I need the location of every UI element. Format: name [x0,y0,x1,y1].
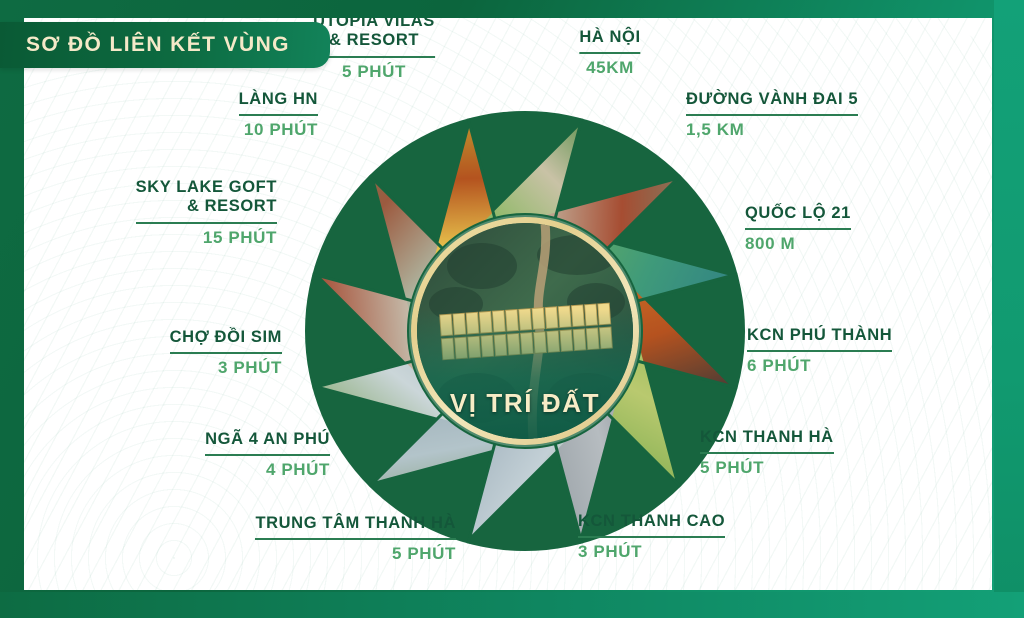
callout-utopia-vilas-resort[interactable]: UTOPIA VILAS & RESORT5 PHÚT [313,18,435,81]
callout-title: LÀNG HN [239,90,318,109]
callout-title: KCN THANH HÀ [700,428,834,447]
callout-title: SKY LAKE GOFT & RESORT [136,178,277,217]
callout-divider [745,228,851,230]
callout-value: 45KM [579,58,640,78]
callout-value: 10 PHÚT [239,120,318,140]
callout-value: 3 PHÚT [170,358,282,378]
callout-title: KCN THANH CAO [578,512,725,531]
callout-duong-vanh-dai-5[interactable]: ĐƯỜNG VÀNH ĐAI 51,5 KM [686,90,858,140]
content-panel: VỊ TRÍ ĐẤT UTOPIA VILAS & RESORT5 PHÚTHÀ… [24,18,992,590]
callout-divider [747,350,892,352]
callout-title: NGÃ 4 AN PHÚ [205,430,330,449]
callout-divider [700,452,834,454]
callout-divider [579,52,640,54]
page-title: SƠ ĐỒ LIÊN KẾT VÙNG [26,33,290,57]
callout-title: TRUNG TÂM THANH HÀ [255,514,456,533]
callout-ha-noi[interactable]: HÀ NỘI45KM [579,28,640,78]
connectivity-wheel: VỊ TRÍ ĐẤT [305,111,745,551]
callout-value: 5 PHÚT [700,458,834,478]
callout-value: 5 PHÚT [313,62,435,82]
center-label: VỊ TRÍ ĐẤT [411,388,639,419]
callout-divider [578,536,725,538]
callout-divider [686,114,858,116]
callout-title: ĐƯỜNG VÀNH ĐAI 5 [686,90,858,109]
callout-cho-doi-sim[interactable]: CHỢ ĐỒI SIM3 PHÚT [170,328,282,378]
callout-divider [205,454,330,456]
callout-kcn-thanh-cao[interactable]: KCN THANH CAO3 PHÚT [578,512,725,562]
title-banner: SƠ ĐỒ LIÊN KẾT VÙNG [0,22,330,68]
callout-divider [255,538,456,540]
callout-title: UTOPIA VILAS & RESORT [313,18,435,51]
callout-lang-hn[interactable]: LÀNG HN10 PHÚT [239,90,318,140]
callout-title: CHỢ ĐỒI SIM [170,328,282,347]
callout-title: KCN PHÚ THÀNH [747,326,892,345]
page-frame: VỊ TRÍ ĐẤT UTOPIA VILAS & RESORT5 PHÚTHÀ… [0,0,1024,618]
callout-value: 1,5 KM [686,120,858,140]
callout-value: 5 PHÚT [255,544,456,564]
callout-divider [136,222,277,224]
callout-value: 3 PHÚT [578,542,725,562]
frame-edge-right [994,0,1024,618]
callout-divider [170,352,282,354]
callout-nga-4-an-phu[interactable]: NGÃ 4 AN PHÚ4 PHÚT [205,430,330,480]
callout-sky-lake-goft[interactable]: SKY LAKE GOFT & RESORT15 PHÚT [136,178,277,247]
callout-value: 6 PHÚT [747,356,892,376]
callout-title: HÀ NỘI [579,28,640,47]
callout-trung-tam-thanh-ha[interactable]: TRUNG TÂM THANH HÀ5 PHÚT [255,514,456,564]
frame-edge-bottom [0,592,1024,618]
callout-divider [313,56,435,58]
callout-value: 4 PHÚT [205,460,330,480]
callout-quoc-lo-21[interactable]: QUỐC LỘ 21800 M [745,204,851,254]
callout-title: QUỐC LỘ 21 [745,204,851,223]
callout-divider [239,114,318,116]
callout-kcn-thanh-ha[interactable]: KCN THANH HÀ5 PHÚT [700,428,834,478]
callout-value: 800 M [745,234,851,254]
center-medallion: VỊ TRÍ ĐẤT [411,217,639,445]
callout-value: 15 PHÚT [136,228,277,248]
callout-kcn-phu-thanh[interactable]: KCN PHÚ THÀNH6 PHÚT [747,326,892,376]
